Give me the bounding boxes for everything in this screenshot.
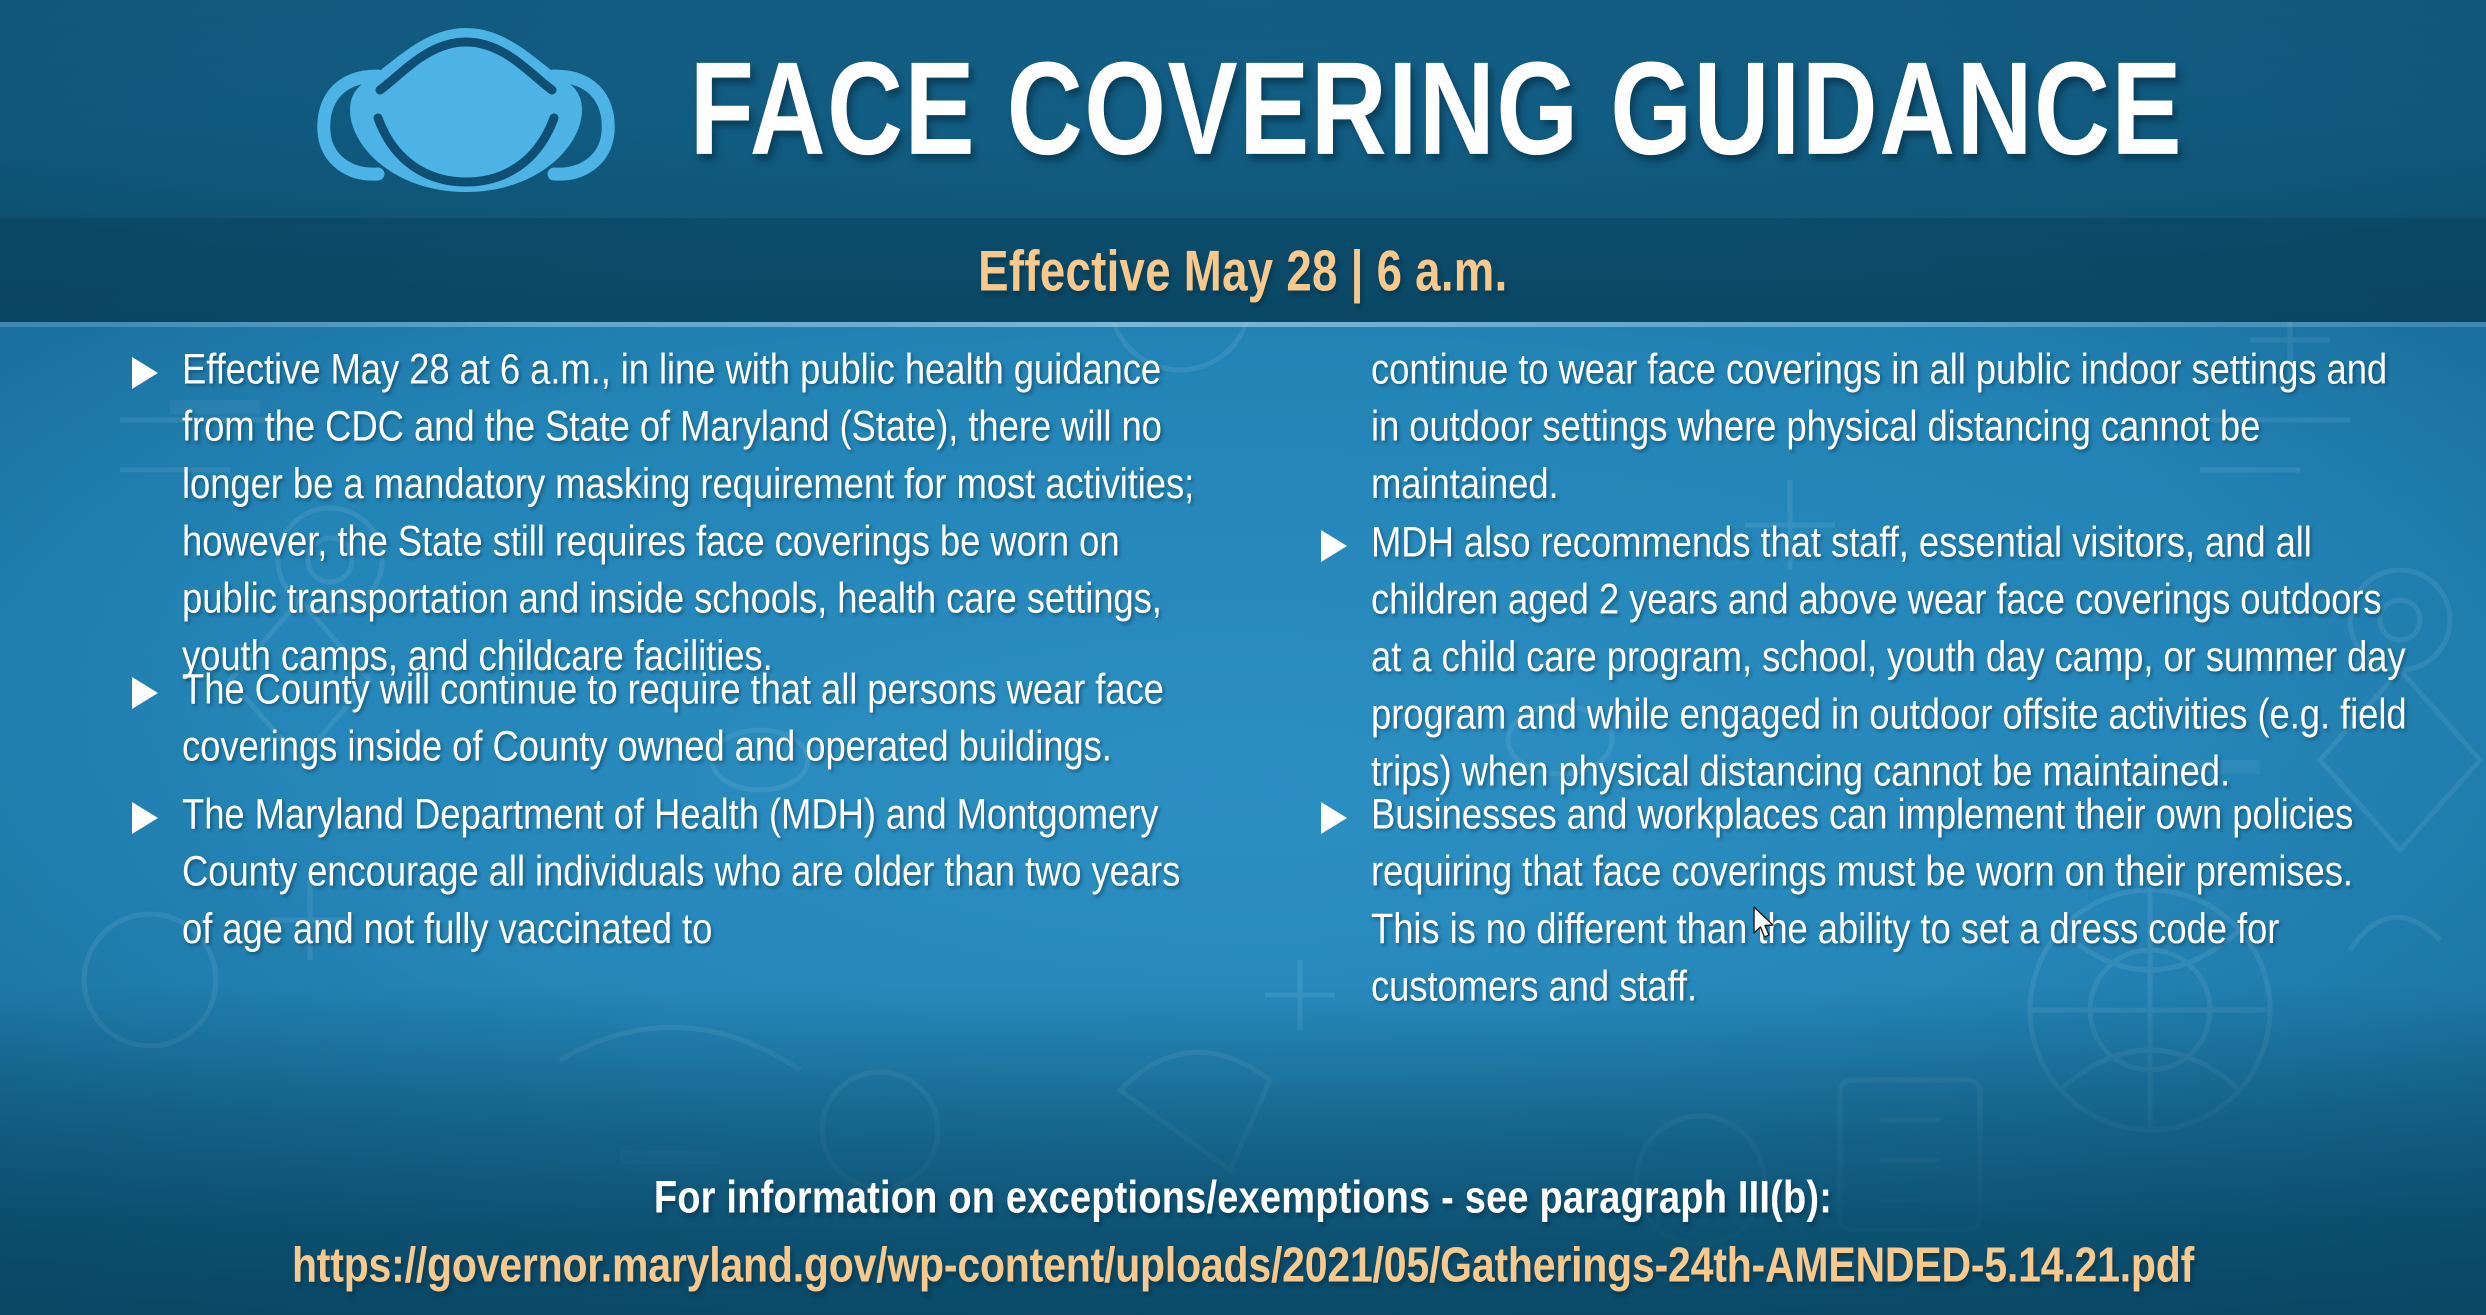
face-mask-icon — [316, 14, 616, 204]
triangle-bullet-icon — [130, 676, 160, 710]
bullet-item: The Maryland Department of Health (MDH) … — [130, 785, 1211, 932]
effective-date-subtitle: Effective May 28 | 6 a.m. — [978, 236, 1507, 303]
subtitle-container: Effective May 28 | 6 a.m. — [0, 218, 2486, 322]
bullet-continuation: continue to wear face coverings in all p… — [1319, 340, 2408, 487]
bullet-text: MDH also recommends that staff, essentia… — [1371, 513, 2408, 800]
header-divider — [0, 322, 2486, 327]
exceptions-note: For information on exceptions/exemptions… — [0, 1173, 2486, 1225]
bullet-text: continue to wear face coverings in all p… — [1371, 340, 2408, 512]
page-title: FACE COVERING GUIDANCE — [689, 43, 2182, 175]
slide-header: FACE COVERING GUIDANCE — [0, 0, 2486, 218]
bullet-text: Businesses and workplaces can implement … — [1371, 785, 2408, 1015]
right-column: continue to wear face coverings in all p… — [1269, 340, 2408, 1140]
triangle-bullet-icon — [1319, 529, 1349, 563]
bullet-item: MDH also recommends that staff, essentia… — [1319, 513, 2408, 758]
triangle-bullet-icon — [130, 356, 160, 390]
bullet-text: The Maryland Department of Health (MDH) … — [182, 785, 1211, 957]
bullet-item: Effective May 28 at 6 a.m., in line with… — [130, 340, 1211, 634]
guidance-url-link[interactable]: https://governor.maryland.gov/wp-content… — [0, 1237, 2486, 1293]
slide-footer: For information on exceptions/exemptions… — [0, 1177, 2486, 1289]
left-column: Effective May 28 at 6 a.m., in line with… — [130, 340, 1269, 1140]
triangle-bullet-icon — [1319, 801, 1349, 835]
bullet-spacer — [1319, 356, 1349, 390]
triangle-bullet-icon — [130, 801, 160, 835]
bullet-text: The County will continue to require that… — [182, 660, 1211, 775]
bullet-item: Businesses and workplaces can implement … — [1319, 785, 2408, 981]
slide-body: Effective May 28 at 6 a.m., in line with… — [0, 340, 2486, 1140]
bullet-item: The County will continue to require that… — [130, 660, 1211, 758]
bullet-text: Effective May 28 at 6 a.m., in line with… — [182, 340, 1211, 685]
face-covering-guidance-slide: FACE COVERING GUIDANCE Effective May 28 … — [0, 0, 2486, 1315]
